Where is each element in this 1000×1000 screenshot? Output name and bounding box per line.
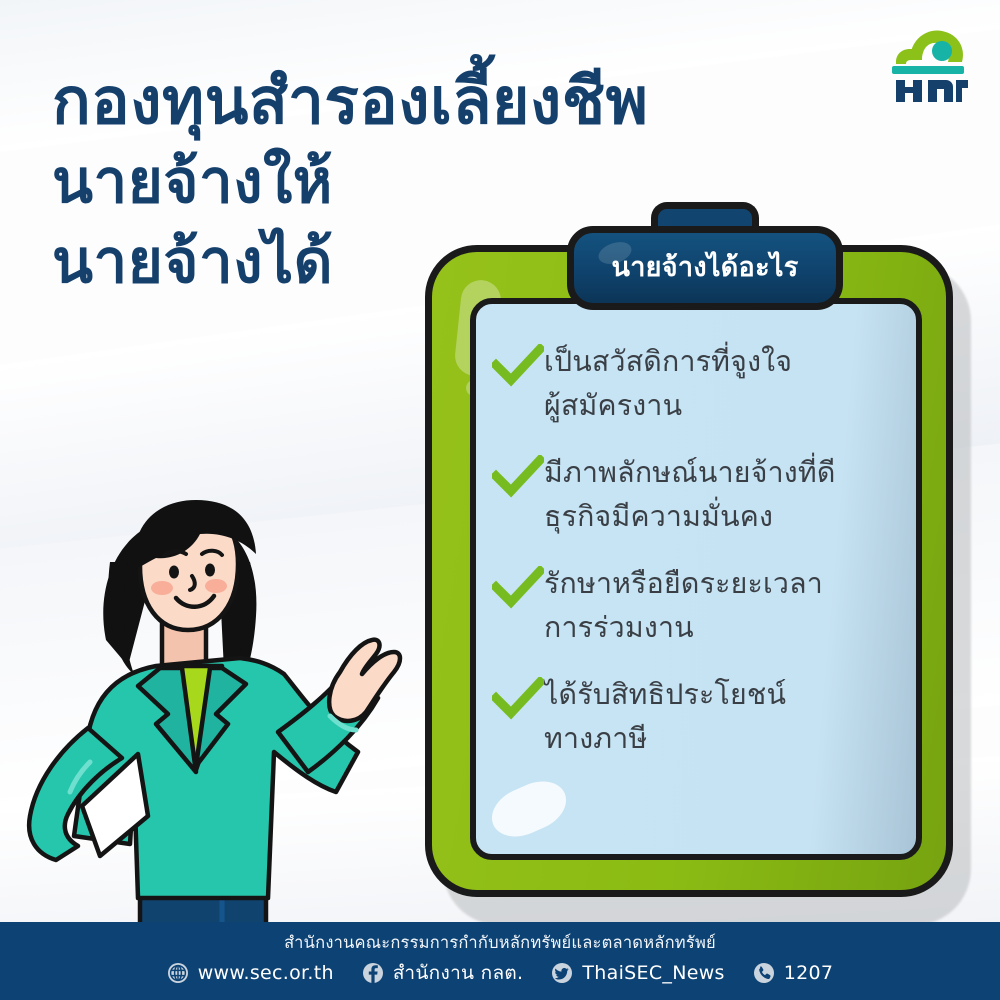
- footer-links: www.sec.or.th สำนักงาน กลต.: [0, 958, 1000, 988]
- footer-link-label: www.sec.or.th: [198, 962, 334, 984]
- footer-link-website[interactable]: www.sec.or.th: [167, 962, 334, 984]
- benefits-checklist: เป็นสวัสดิการที่จูงใจ ผู้สมัครงาน มีภาพล…: [492, 340, 876, 761]
- footer-link-label: สำนักงาน กลต.: [393, 958, 524, 988]
- businesswoman-illustration: [10, 470, 430, 930]
- clipboard-frame: เป็นสวัสดิการที่จูงใจ ผู้สมัครงาน มีภาพล…: [425, 245, 953, 897]
- sec-thailand-logo: [874, 18, 978, 110]
- facebook-icon: [362, 962, 384, 984]
- footer-link-phone[interactable]: 1207: [753, 962, 834, 984]
- list-item-label: ได้รับสิทธิประโยชน์ ทางภาษี: [544, 673, 786, 761]
- footer-link-label: 1207: [784, 962, 834, 984]
- footer-link-facebook[interactable]: สำนักงาน กลต.: [362, 958, 524, 988]
- clipboard-tab-badge: นายจ้างได้อะไร: [567, 202, 843, 310]
- title-line-1: กองทุนสำรองเลี้ยงชีพ: [52, 62, 712, 142]
- list-item: ได้รับสิทธิประโยชน์ ทางภาษี: [492, 673, 876, 761]
- globe-icon: [167, 962, 189, 984]
- check-icon: [492, 566, 544, 610]
- tab-label: นายจ้างได้อะไร: [611, 254, 798, 281]
- organization-name: สำนักงานคณะกรรมการกำกับหลักทรัพย์และตลาด…: [0, 930, 1000, 956]
- infographic-canvas: กองทุนสำรองเลี้ยงชีพ นายจ้างให้ นายจ้างไ…: [0, 0, 1000, 1000]
- list-item: รักษาหรือยืดระยะเวลา การร่วมงาน: [492, 562, 876, 650]
- list-item: เป็นสวัสดิการที่จูงใจ ผู้สมัครงาน: [492, 340, 876, 428]
- list-item-label: เป็นสวัสดิการที่จูงใจ ผู้สมัครงาน: [544, 340, 792, 428]
- phone-icon: [753, 962, 775, 984]
- footer-link-twitter[interactable]: ThaiSEC_News: [551, 962, 724, 984]
- check-icon: [492, 455, 544, 499]
- footer-bar: สำนักงานคณะกรรมการกำกับหลักทรัพย์และตลาด…: [0, 922, 1000, 1000]
- list-item-label: รักษาหรือยืดระยะเวลา การร่วมงาน: [544, 562, 823, 650]
- paper-highlight: [484, 772, 574, 846]
- twitter-icon: [551, 962, 573, 984]
- check-icon: [492, 677, 544, 721]
- tab-pill: นายจ้างได้อะไร: [567, 226, 843, 310]
- footer-link-label: ThaiSEC_News: [582, 962, 724, 984]
- list-item-label: มีภาพลักษณ์นายจ้างที่ดี ธุรกิจมีความมั่น…: [544, 451, 836, 539]
- check-icon: [492, 344, 544, 388]
- list-item: มีภาพลักษณ์นายจ้างที่ดี ธุรกิจมีความมั่น…: [492, 451, 876, 539]
- clipboard: เป็นสวัสดิการที่จูงใจ ผู้สมัครงาน มีภาพล…: [425, 245, 965, 917]
